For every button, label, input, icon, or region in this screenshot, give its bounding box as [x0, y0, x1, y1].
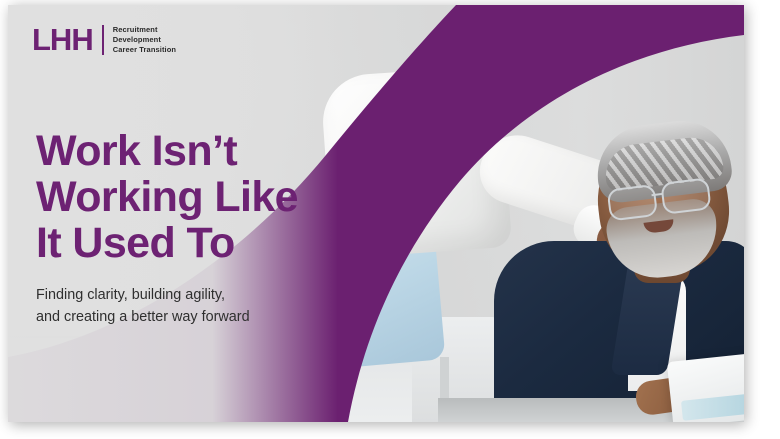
tagline-line-2: Development	[113, 35, 176, 44]
tagline-line-1: Recruitment	[113, 25, 176, 34]
logo-tagline: Recruitment Development Career Transitio…	[113, 25, 176, 54]
glasses-lens-left	[607, 184, 659, 222]
laptop	[667, 352, 744, 422]
subtitle-line-2: and creating a better way forward	[36, 307, 336, 329]
laptop-screen	[681, 393, 744, 421]
slide-page: LHH Recruitment Development Career Trans…	[0, 0, 780, 439]
slide-subtitle: Finding clarity, building agility, and c…	[36, 285, 336, 329]
woman-pearl-earring	[480, 43, 489, 52]
glasses-lens-right	[660, 177, 712, 215]
headline-line-1: Work Isn’t	[36, 128, 336, 174]
lhh-wordmark: LHH	[32, 24, 93, 55]
lhh-logo[interactable]: LHH Recruitment Development Career Trans…	[32, 24, 176, 55]
headline-line-3: It Used To	[36, 220, 336, 266]
headline-line-2: Working Like	[36, 174, 336, 220]
subtitle-line-1: Finding clarity, building agility,	[36, 285, 336, 307]
tagline-line-3: Career Transition	[113, 45, 176, 54]
logo-divider-rule	[102, 25, 104, 55]
marketing-slide-card: LHH Recruitment Development Career Trans…	[8, 5, 744, 422]
slide-headline: Work Isn’t Working Like It Used To	[36, 128, 336, 266]
